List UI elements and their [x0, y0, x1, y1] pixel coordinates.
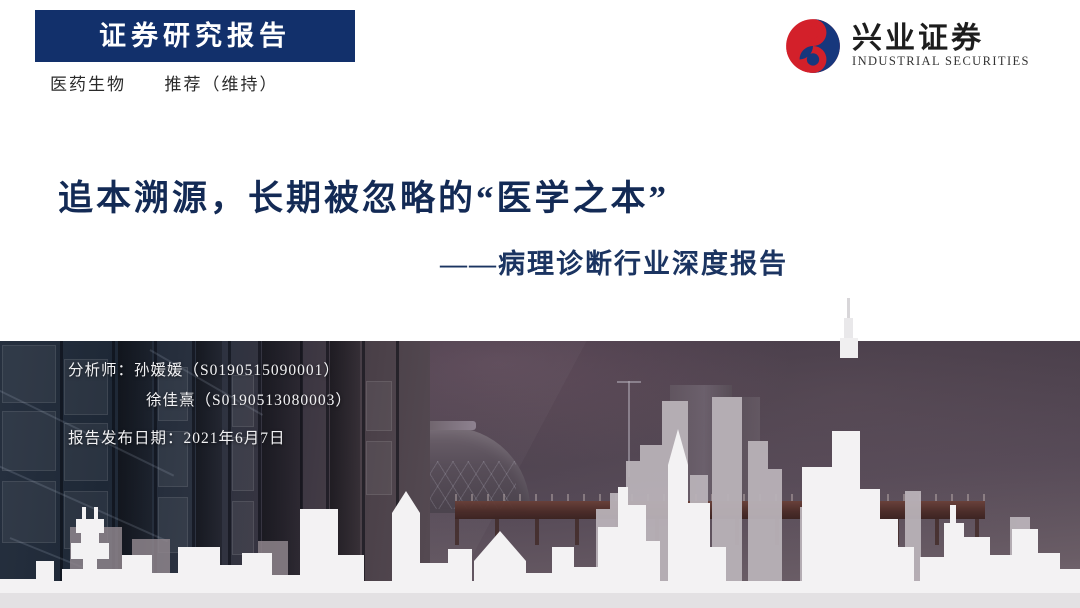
analyst-secondary: 徐佳熹（S0190513080003）: [68, 386, 352, 416]
report-cover-slide: 证券研究报告 医药生物 推荐（维持） 兴业证券 INDUSTRIAL SECUR…: [0, 0, 1080, 608]
report-subtitle: ——病理诊断行业深度报告: [440, 242, 788, 281]
company-logo: 兴业证券 INDUSTRIAL SECURITIES: [785, 18, 1030, 74]
skyscraper-spire: [830, 298, 870, 358]
analyst-info-block: 分析师：孙媛媛（S0190515090001） 徐佳熹（S01905130800…: [68, 356, 352, 455]
research-report-banner: 证券研究报告: [35, 10, 355, 62]
rating-label: 推荐（维持）: [165, 75, 279, 94]
banner-label: 证券研究报告: [35, 10, 355, 62]
sector-label: 医药生物: [50, 75, 126, 94]
logo-company-en: INDUSTRIAL SECURITIES: [852, 54, 1030, 69]
analyst-primary: 分析师：孙媛媛（S0190515090001）: [68, 356, 352, 386]
xingye-swirl-logo-icon: [785, 18, 841, 74]
sector-rating-line: 医药生物 推荐（维持）: [50, 70, 279, 95]
logo-company-cn: 兴业证券: [852, 23, 984, 55]
report-title: 追本溯源，长期被忽略的“医学之本”: [58, 170, 669, 221]
publish-date: 报告发布日期：2021年6月7日: [68, 424, 352, 454]
